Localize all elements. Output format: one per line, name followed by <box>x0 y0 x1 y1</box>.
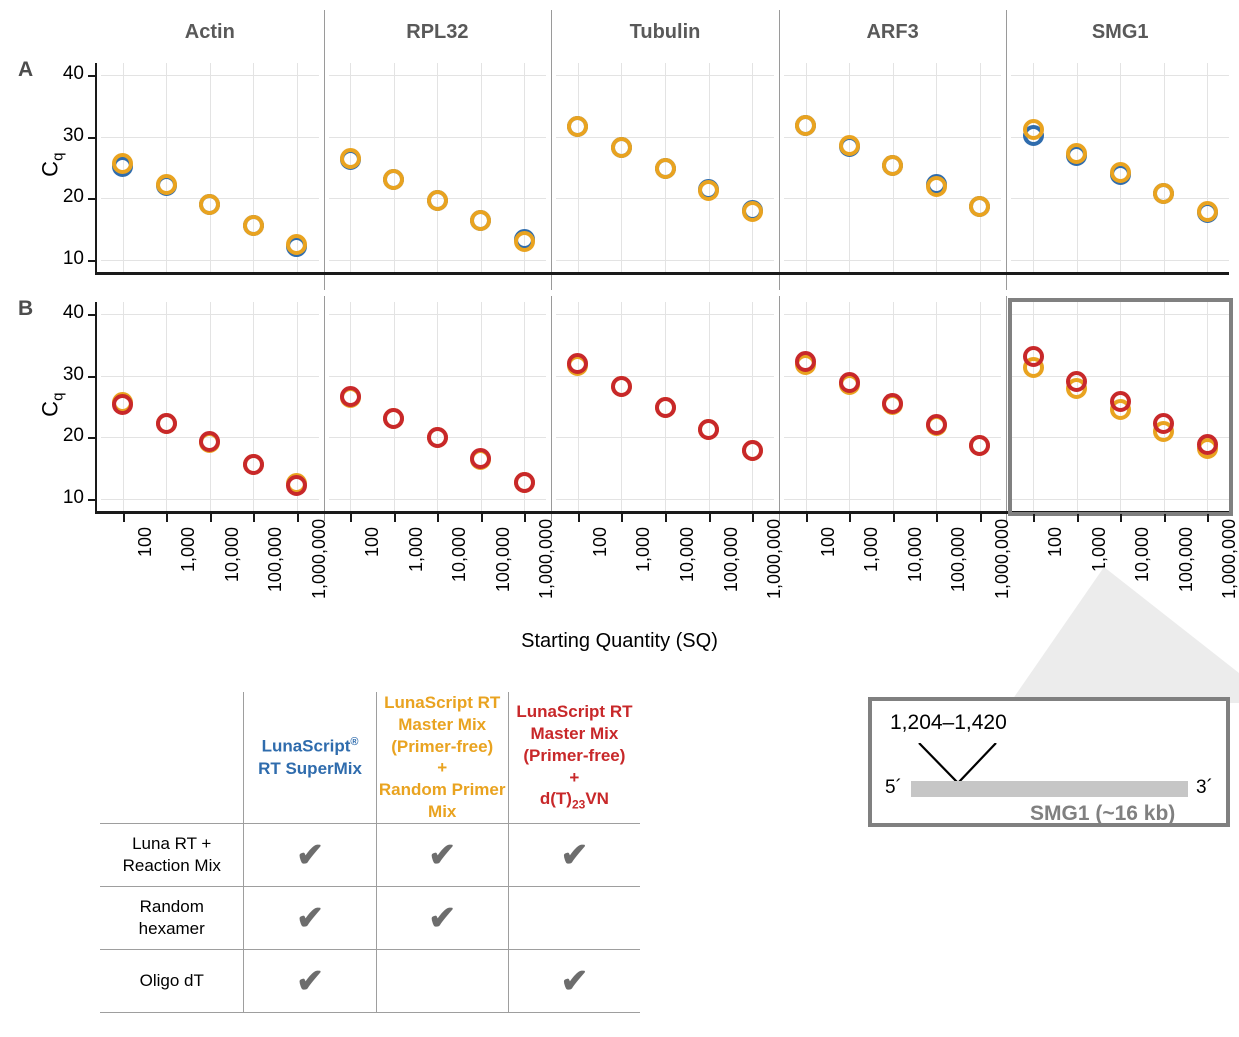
gridline-horizontal <box>556 437 774 438</box>
x-tick-label: 100,000 <box>265 527 286 599</box>
x-tick-mark <box>437 514 439 522</box>
data-point <box>742 440 763 461</box>
gridline-vertical <box>166 302 167 511</box>
y-tick-label-30: 30 <box>44 125 84 147</box>
x-tick-mark <box>980 514 982 522</box>
x-tick-label: 1,000 <box>178 527 199 599</box>
gridline-horizontal <box>784 198 1002 199</box>
gridline-horizontal <box>329 499 547 500</box>
x-tick-label: 1,000,000 <box>309 527 330 599</box>
gridline-horizontal <box>329 314 547 315</box>
gridline-horizontal <box>784 137 1002 138</box>
data-point <box>112 394 133 415</box>
gridline-horizontal <box>784 260 1002 261</box>
x-tick-label: 1,000,000 <box>536 527 557 599</box>
gridline-vertical <box>210 63 211 272</box>
gridline-vertical <box>1077 63 1078 272</box>
gridline-horizontal <box>556 376 774 377</box>
gridline-horizontal <box>1011 260 1229 261</box>
x-tick-mark <box>1077 514 1079 522</box>
gridline-horizontal <box>556 260 774 261</box>
x-tick-label: 10,000 <box>222 527 243 599</box>
legend-check-cell <box>508 886 640 949</box>
legend-header-line: (Primer-free) <box>509 745 640 767</box>
facet-divider <box>1006 10 1007 290</box>
legend-header-line: LunaScript® <box>244 735 375 757</box>
gridline-horizontal <box>556 137 774 138</box>
y-tick-label-40: 40 <box>44 63 84 85</box>
x-tick-label: 100 <box>135 527 156 599</box>
x-tick-mark <box>936 514 938 522</box>
legend-row-label-line: hexamer <box>100 918 243 939</box>
gridline-vertical <box>210 302 211 511</box>
gridline-vertical <box>578 302 579 511</box>
gridline-horizontal <box>556 198 774 199</box>
gridline-horizontal <box>101 499 319 500</box>
legend-border-cell <box>100 1012 244 1013</box>
gridline-vertical <box>394 63 395 272</box>
legend-check-cell: ✔ <box>508 949 640 1012</box>
x-tick-label: 100 <box>362 527 383 599</box>
gridline-horizontal <box>784 376 1002 377</box>
facet-divider <box>779 296 780 521</box>
x-tick-mark <box>1164 514 1166 522</box>
legend-row-label: Luna RT +Reaction Mix <box>100 823 244 886</box>
legend-row-label: Oligo dT <box>100 949 244 1012</box>
data-point <box>1066 143 1087 164</box>
facet-title-tubulin: Tubulin <box>556 14 774 50</box>
legend-border-cell <box>508 1012 640 1013</box>
gridline-vertical <box>709 302 710 511</box>
gridline-horizontal <box>101 260 319 261</box>
y-tick-label-20: 20 <box>44 425 84 447</box>
data-point <box>742 201 763 222</box>
panel-letter-a: A <box>18 58 33 82</box>
x-tick-mark <box>210 514 212 522</box>
data-point <box>698 419 719 440</box>
legend-check-cell <box>376 949 508 1012</box>
legend-border-cell <box>244 1012 376 1013</box>
gridline-horizontal <box>1011 75 1229 76</box>
x-tick-mark <box>166 514 168 522</box>
legend-table-row: Luna RT +Reaction Mix✔✔✔ <box>100 823 640 886</box>
checkmark-icon: ✔ <box>296 962 324 999</box>
callout-wedge <box>860 555 1239 705</box>
legend-table-bottom-border <box>100 1012 640 1013</box>
gridline-vertical <box>437 63 438 272</box>
x-tick-mark <box>297 514 299 522</box>
x-tick-label: 1,000 <box>406 527 427 599</box>
facet-divider <box>324 10 325 290</box>
checkmark-icon: ✔ <box>561 836 589 873</box>
gridline-horizontal <box>101 314 319 315</box>
data-point <box>243 215 264 236</box>
legend-row-label-line: Reaction Mix <box>100 855 243 876</box>
data-point <box>383 169 404 190</box>
gridline-horizontal <box>784 314 1002 315</box>
facet-title-rpl32: RPL32 <box>329 14 547 50</box>
gridline-vertical <box>752 302 753 511</box>
gridline-horizontal <box>556 499 774 500</box>
gridline-vertical <box>481 302 482 511</box>
y-tick-mark <box>88 137 95 139</box>
smg1-highlight-box <box>1008 298 1233 516</box>
y-tick-mark <box>88 314 95 316</box>
x-tick-mark <box>849 514 851 522</box>
x-tick-mark <box>1033 514 1035 522</box>
y-axis-line <box>95 63 97 274</box>
x-tick-mark <box>481 514 483 522</box>
y-tick-mark <box>88 260 95 262</box>
gridline-vertical <box>1207 63 1208 272</box>
data-point <box>655 397 676 418</box>
data-point <box>839 135 860 156</box>
legend-header-line: + <box>377 757 508 779</box>
legend-column-header-random-primer: LunaScript RTMaster Mix(Primer-free)+Ran… <box>376 692 508 823</box>
x-tick-mark <box>752 514 754 522</box>
panel-letter-b: B <box>18 297 33 321</box>
x-tick-label: 100,000 <box>493 527 514 599</box>
data-point <box>926 414 947 435</box>
data-point <box>795 115 816 136</box>
smg1-inset-box: 1,204–1,420 5´ 3´ SMG1 (~16 kb) <box>868 697 1230 827</box>
figure-root: ActinRPL32TubulinARF3SMG1 A Cq 10203040 … <box>0 0 1239 1037</box>
facet-title-arf3: ARF3 <box>784 14 1002 50</box>
legend-corner-cell <box>100 692 244 823</box>
facet-divider <box>551 10 552 290</box>
gridline-horizontal <box>329 260 547 261</box>
legend-row-label-line: Random <box>100 896 243 917</box>
gridline-horizontal <box>784 75 1002 76</box>
x-tick-mark <box>524 514 526 522</box>
y-tick-label-20: 20 <box>44 186 84 208</box>
x-tick-mark <box>665 514 667 522</box>
y-tick-mark <box>88 437 95 439</box>
legend-header-line: + <box>509 767 640 789</box>
gridline-vertical <box>980 302 981 511</box>
gridline-vertical <box>621 63 622 272</box>
data-point <box>611 376 632 397</box>
gridline-vertical <box>166 63 167 272</box>
x-axis-line <box>95 272 1229 275</box>
facet-divider <box>1006 296 1007 521</box>
y-tick-label-10: 10 <box>44 248 84 270</box>
checkmark-icon: ✔ <box>428 899 456 936</box>
data-point <box>243 454 264 475</box>
data-point <box>1153 183 1174 204</box>
gridline-vertical <box>394 302 395 511</box>
gridline-vertical <box>1164 63 1165 272</box>
gridline-vertical <box>253 63 254 272</box>
inset-gene-name: SMG1 (~16 kb) <box>1030 802 1175 826</box>
gridline-vertical <box>980 63 981 272</box>
gridline-vertical <box>752 63 753 272</box>
gridline-vertical <box>806 302 807 511</box>
inset-region-label: 1,204–1,420 <box>890 711 1007 735</box>
inset-pointer-lines <box>912 743 1032 785</box>
x-tick-mark <box>253 514 255 522</box>
checkmark-icon: ✔ <box>296 899 324 936</box>
x-tick-label: 100 <box>590 527 611 599</box>
gridline-vertical <box>437 302 438 511</box>
gridline-horizontal <box>1011 198 1229 199</box>
legend-column-header-supermix: LunaScript®RT SuperMix <box>244 692 376 823</box>
gridline-vertical <box>936 63 937 272</box>
x-tick-label: 100,000 <box>721 527 742 599</box>
y-axis-label-b-main: C <box>37 401 62 417</box>
legend-check-cell: ✔ <box>244 886 376 949</box>
data-point <box>427 190 448 211</box>
gridline-horizontal <box>329 376 547 377</box>
legend-table: LunaScript®RT SuperMixLunaScript RTMaste… <box>100 692 640 1013</box>
gridline-horizontal <box>556 314 774 315</box>
data-point <box>882 393 903 414</box>
x-tick-label: 1,000,000 <box>764 527 785 599</box>
y-tick-mark <box>88 376 95 378</box>
gridline-vertical <box>849 302 850 511</box>
gridline-vertical <box>1033 63 1034 272</box>
legend-header-line: d(T)23VN <box>509 788 640 813</box>
data-point <box>340 386 361 407</box>
gridline-horizontal <box>101 75 319 76</box>
legend-header-line: Random Primer Mix <box>377 779 508 823</box>
data-point <box>156 174 177 195</box>
gene-bar <box>911 781 1188 797</box>
x-tick-mark <box>350 514 352 522</box>
facet-divider <box>551 296 552 521</box>
facet-divider <box>324 296 325 521</box>
legend-header-line: (Primer-free) <box>377 736 508 758</box>
y-tick-label-10: 10 <box>44 487 84 509</box>
gridline-horizontal <box>101 137 319 138</box>
data-point <box>1023 119 1044 140</box>
gridline-horizontal <box>784 437 1002 438</box>
data-point <box>926 176 947 197</box>
x-tick-label: 100 <box>818 527 839 599</box>
gridline-vertical <box>253 302 254 511</box>
y-axis-line <box>95 302 97 513</box>
legend-header-line: LunaScript RT <box>377 692 508 714</box>
y-tick-mark <box>88 75 95 77</box>
gridline-vertical <box>936 302 937 511</box>
gridline-vertical <box>578 63 579 272</box>
legend-table-row: Randomhexamer✔✔ <box>100 886 640 949</box>
gridline-horizontal <box>784 499 1002 500</box>
gridline-horizontal <box>101 376 319 377</box>
data-point <box>969 435 990 456</box>
gridline-horizontal <box>1011 137 1229 138</box>
y-axis-label-a-sub: q <box>50 153 67 161</box>
legend-column-header-oligo-dt: LunaScript RTMaster Mix(Primer-free)+d(T… <box>508 692 640 823</box>
legend-check-cell: ✔ <box>376 823 508 886</box>
checkmark-icon: ✔ <box>561 962 589 999</box>
gridline-horizontal <box>329 137 547 138</box>
y-axis-label-a-main: C <box>37 161 62 177</box>
legend-header-row: LunaScript®RT SuperMixLunaScript RTMaste… <box>100 692 640 823</box>
data-point <box>514 472 535 493</box>
facet-divider <box>779 10 780 290</box>
x-tick-label: 1,000 <box>633 527 654 599</box>
legend-row-label-line: Luna RT + <box>100 833 243 854</box>
x-tick-mark <box>123 514 125 522</box>
y-tick-label-30: 30 <box>44 364 84 386</box>
gridline-vertical <box>481 63 482 272</box>
data-point <box>156 413 177 434</box>
x-tick-label: 10,000 <box>677 527 698 599</box>
y-tick-label-40: 40 <box>44 302 84 324</box>
x-tick-mark <box>621 514 623 522</box>
gridline-vertical <box>709 63 710 272</box>
x-tick-mark <box>709 514 711 522</box>
three-prime-label: 3´ <box>1196 777 1213 799</box>
legend-check-cell: ✔ <box>244 823 376 886</box>
data-point <box>839 372 860 393</box>
facet-title-smg1: SMG1 <box>1011 14 1229 50</box>
data-point <box>470 448 491 469</box>
legend-check-cell: ✔ <box>376 886 508 949</box>
x-tick-mark <box>1207 514 1209 522</box>
legend-header-line: LunaScript RT <box>509 701 640 723</box>
legend-header-line: Master Mix <box>509 723 640 745</box>
facet-title-actin: Actin <box>101 14 319 50</box>
data-point <box>698 180 719 201</box>
gridline-horizontal <box>556 75 774 76</box>
gridline-vertical <box>806 63 807 272</box>
checkmark-icon: ✔ <box>428 836 456 873</box>
legend-border-cell <box>376 1012 508 1013</box>
checkmark-icon: ✔ <box>296 836 324 873</box>
five-prime-label: 5´ <box>885 777 902 799</box>
gridline-vertical <box>849 63 850 272</box>
x-tick-label: 10,000 <box>449 527 470 599</box>
y-tick-mark <box>88 499 95 501</box>
data-point <box>655 158 676 179</box>
x-tick-mark <box>1120 514 1122 522</box>
legend-check-cell: ✔ <box>244 949 376 1012</box>
x-tick-mark <box>806 514 808 522</box>
gridline-horizontal <box>329 75 547 76</box>
y-axis-label-b-sub: q <box>50 393 67 401</box>
x-tick-mark <box>394 514 396 522</box>
legend-header-line: RT SuperMix <box>244 758 375 780</box>
legend-table-row: Oligo dT✔✔ <box>100 949 640 1012</box>
legend-check-cell: ✔ <box>508 823 640 886</box>
data-point <box>1110 162 1131 183</box>
legend-header-line: Master Mix <box>377 714 508 736</box>
x-tick-mark <box>578 514 580 522</box>
gridline-vertical <box>621 302 622 511</box>
data-point <box>1197 201 1218 222</box>
legend-row-label: Randomhexamer <box>100 886 244 949</box>
y-tick-mark <box>88 198 95 200</box>
x-tick-mark <box>893 514 895 522</box>
legend-row-label-line: Oligo dT <box>100 970 243 991</box>
